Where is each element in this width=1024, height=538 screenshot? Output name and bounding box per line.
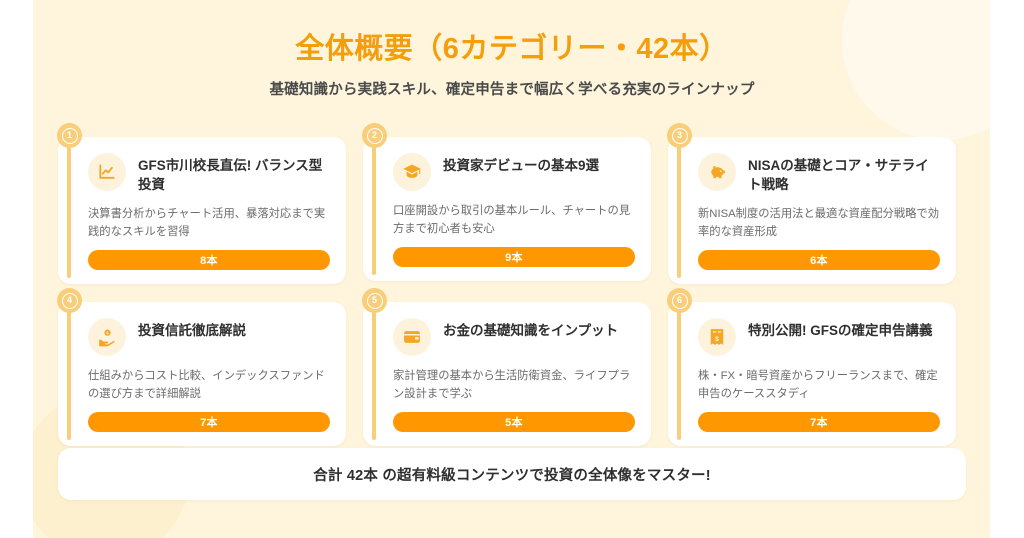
card-number-label: 6 xyxy=(672,293,688,309)
card-title: 投資家デビューの基本9選 xyxy=(443,153,599,175)
piggy-bank-icon xyxy=(698,153,736,191)
card-description: 仕組みからコスト比較、インデックスファンドの選び方まで詳細解説 xyxy=(88,368,330,403)
card-description: 新NISA制度の活用法と最適な資産配分戦略で効率的な資産形成 xyxy=(698,206,940,241)
card-title: 投資信託徹底解説 xyxy=(138,318,246,340)
page-subtitle: 基礎知識から実践スキル、確定申告まで幅広く学べる充実のラインナップ xyxy=(0,67,1024,99)
card-number-label: 4 xyxy=(62,293,78,309)
category-card-5[interactable]: 5 お金の基礎知識をインプット 家計管理の基本から生活防衛資金、ライフプラン設計… xyxy=(363,302,651,446)
summary-banner-text: 合計 42本 の超有料級コンテンツで投資の全体像をマスター! xyxy=(313,464,711,485)
header: 全体概要（6カテゴリー・42本） 基礎知識から実践スキル、確定申告まで幅広く学べ… xyxy=(0,0,1024,99)
card-description: 決算書分析からチャート活用、暴落対応まで実践的なスキルを習得 xyxy=(88,206,330,241)
invoice-dollar-icon: $ xyxy=(698,318,736,356)
card-title: GFS市川校長直伝! バランス型投資 xyxy=(138,153,330,194)
card-number-badge: 1 xyxy=(57,123,82,148)
card-count-badge: 6本 xyxy=(698,250,940,270)
category-card-3[interactable]: 3 NISAの基礎とコア・サテライト戦略 新NISA制度の活用法と最適な資産配分… xyxy=(668,137,956,284)
summary-banner: 合計 42本 の超有料級コンテンツで投資の全体像をマスター! xyxy=(58,448,966,500)
svg-text:$: $ xyxy=(715,336,719,343)
card-description: 株・FX・暗号資産からフリーランスまで、確定申告のケーススタディ xyxy=(698,368,940,403)
card-number-label: 5 xyxy=(367,293,383,309)
card-count-badge: 8本 xyxy=(88,250,330,270)
category-card-4[interactable]: 4 $ 投資信託徹底解説 仕組みからコスト比較、インデックスファンドの選び方まで… xyxy=(58,302,346,446)
page-title: 全体概要（6カテゴリー・42本） xyxy=(0,0,1024,67)
category-card-6[interactable]: 6 $ 特別公開! GFSの確定申告講義 株・FX・暗号資産からフリーランスまで… xyxy=(668,302,956,446)
hand-coin-icon: $ xyxy=(88,318,126,356)
card-number-badge: 2 xyxy=(362,123,387,148)
card-description: 口座開設から取引の基本ルール、チャートの見方まで初心者も安心 xyxy=(393,203,635,238)
category-card-grid: 1 GFS市川校長直伝! バランス型投資 決算書分析からチャート活用、暴落対応ま… xyxy=(58,137,966,446)
card-number-label: 2 xyxy=(367,128,383,144)
category-card-1[interactable]: 1 GFS市川校長直伝! バランス型投資 決算書分析からチャート活用、暴落対応ま… xyxy=(58,137,346,284)
card-count-badge: 9本 xyxy=(393,247,635,267)
card-description: 家計管理の基本から生活防衛資金、ライフプラン設計まで学ぶ xyxy=(393,368,635,403)
slide-canvas: 全体概要（6カテゴリー・42本） 基礎知識から実践スキル、確定申告まで幅広く学べ… xyxy=(0,0,1024,538)
card-number-badge: 5 xyxy=(362,288,387,313)
card-number-badge: 6 xyxy=(667,288,692,313)
graduation-cap-icon xyxy=(393,153,431,191)
card-number-label: 1 xyxy=(62,128,78,144)
card-number-badge: 3 xyxy=(667,123,692,148)
card-number-label: 3 xyxy=(672,128,688,144)
card-title: NISAの基礎とコア・サテライト戦略 xyxy=(748,153,940,194)
category-card-2[interactable]: 2 投資家デビューの基本9選 口座開設から取引の基本ルール、チャートの見方まで初… xyxy=(363,137,651,284)
card-count-badge: 7本 xyxy=(88,412,330,432)
card-number-badge: 4 xyxy=(57,288,82,313)
card-count-badge: 5本 xyxy=(393,412,635,432)
card-count-badge: 7本 xyxy=(698,412,940,432)
wallet-icon xyxy=(393,318,431,356)
line-chart-icon xyxy=(88,153,126,191)
card-title: 特別公開! GFSの確定申告講義 xyxy=(748,318,933,340)
card-title: お金の基礎知識をインプット xyxy=(443,318,618,340)
